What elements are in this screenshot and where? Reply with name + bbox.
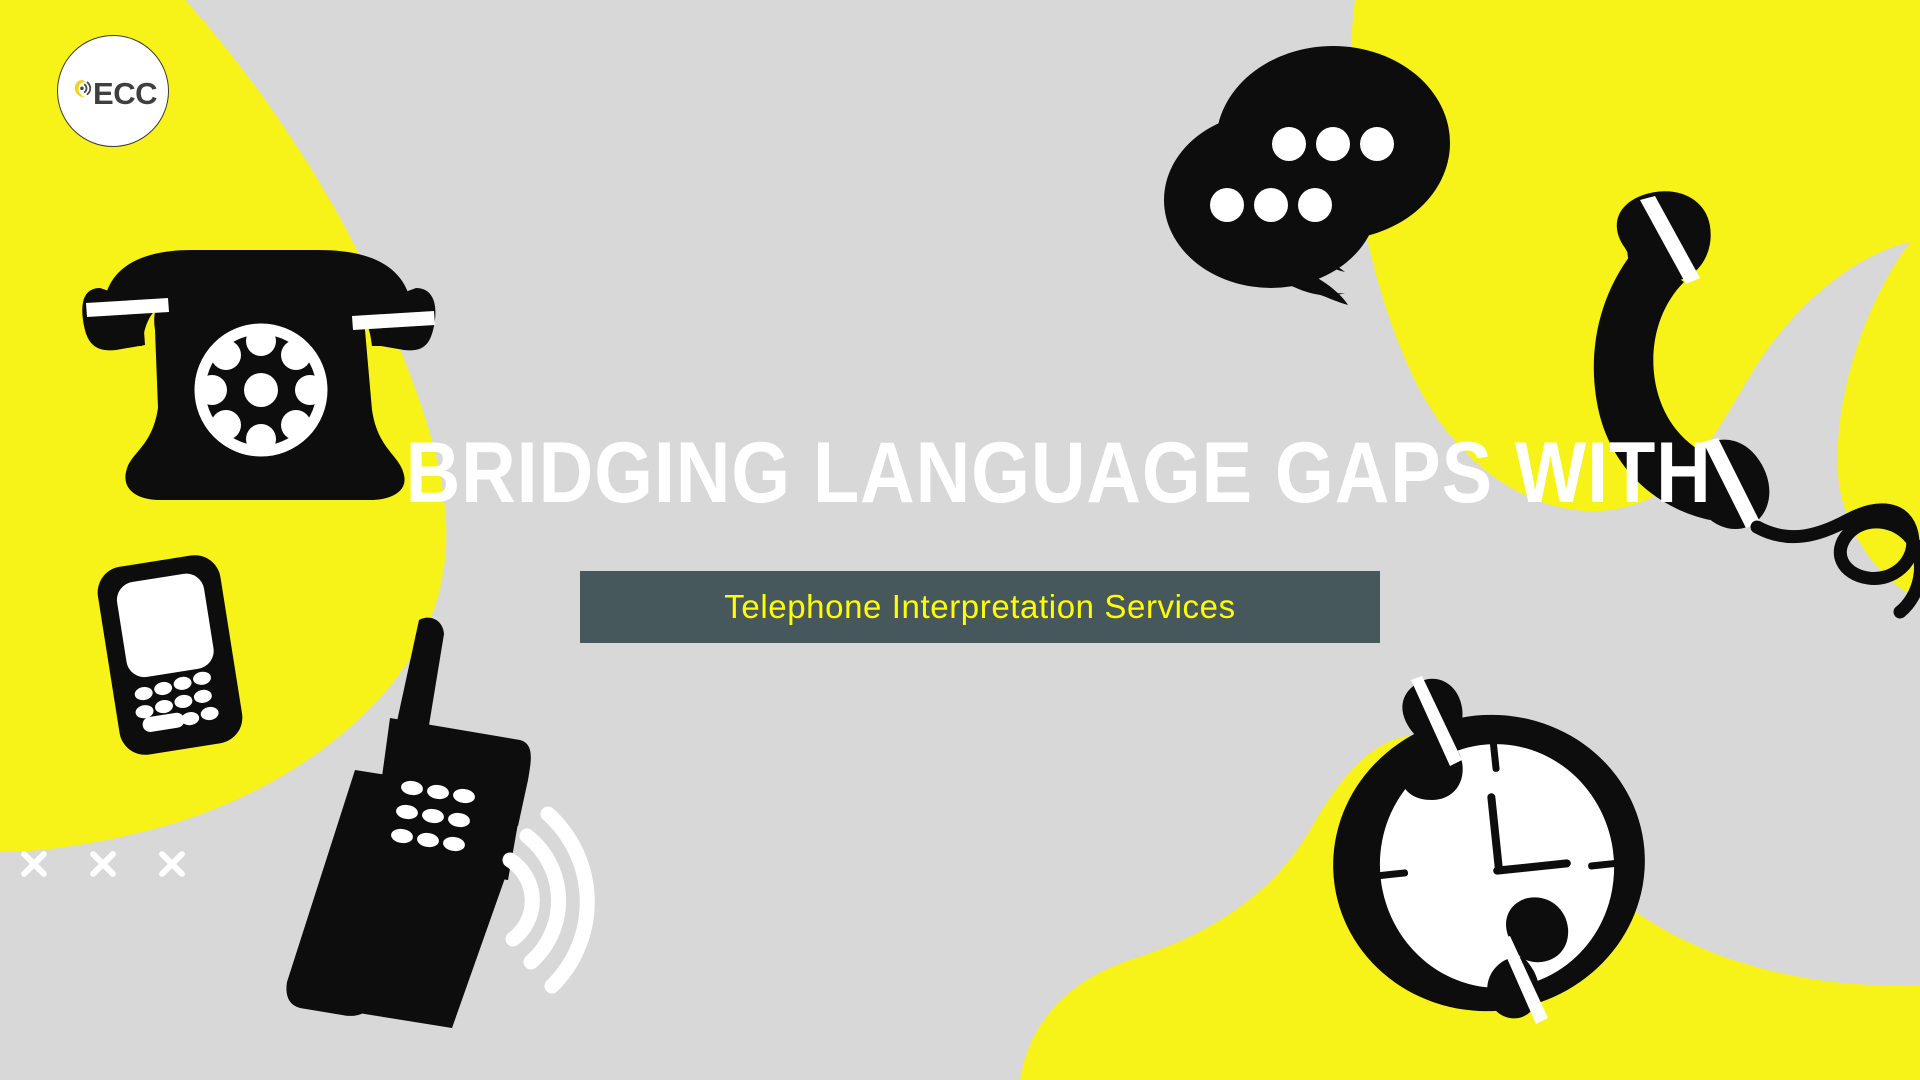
telephone-handset-cord-icon <box>1594 191 1920 612</box>
logo-badge[interactable]: ECC <box>57 35 169 147</box>
chat-bubbles-icon <box>1164 46 1450 305</box>
rotary-desk-phone-icon <box>82 250 435 500</box>
clock-handset-icon <box>1314 676 1664 1031</box>
illustration-layer <box>0 0 1920 1080</box>
slide-canvas: ECC BRIDGING LANGUAGE GAPS WITH Telephon… <box>0 0 1920 1080</box>
logo-text: ECC <box>93 78 157 109</box>
x-mark-icon <box>18 848 50 880</box>
subtitle-text: Telephone Interpretation Services <box>724 588 1235 626</box>
signal-swoosh-icon <box>73 77 95 99</box>
cordless-phone-signal-icon <box>286 618 587 1028</box>
subtitle-bar: Telephone Interpretation Services <box>580 571 1380 643</box>
smartphone-keypad-icon <box>94 551 246 758</box>
x-mark-icon <box>156 848 188 880</box>
x-mark-row <box>18 848 188 880</box>
x-mark-icon <box>87 848 119 880</box>
logo-lockup: ECC <box>73 78 157 109</box>
